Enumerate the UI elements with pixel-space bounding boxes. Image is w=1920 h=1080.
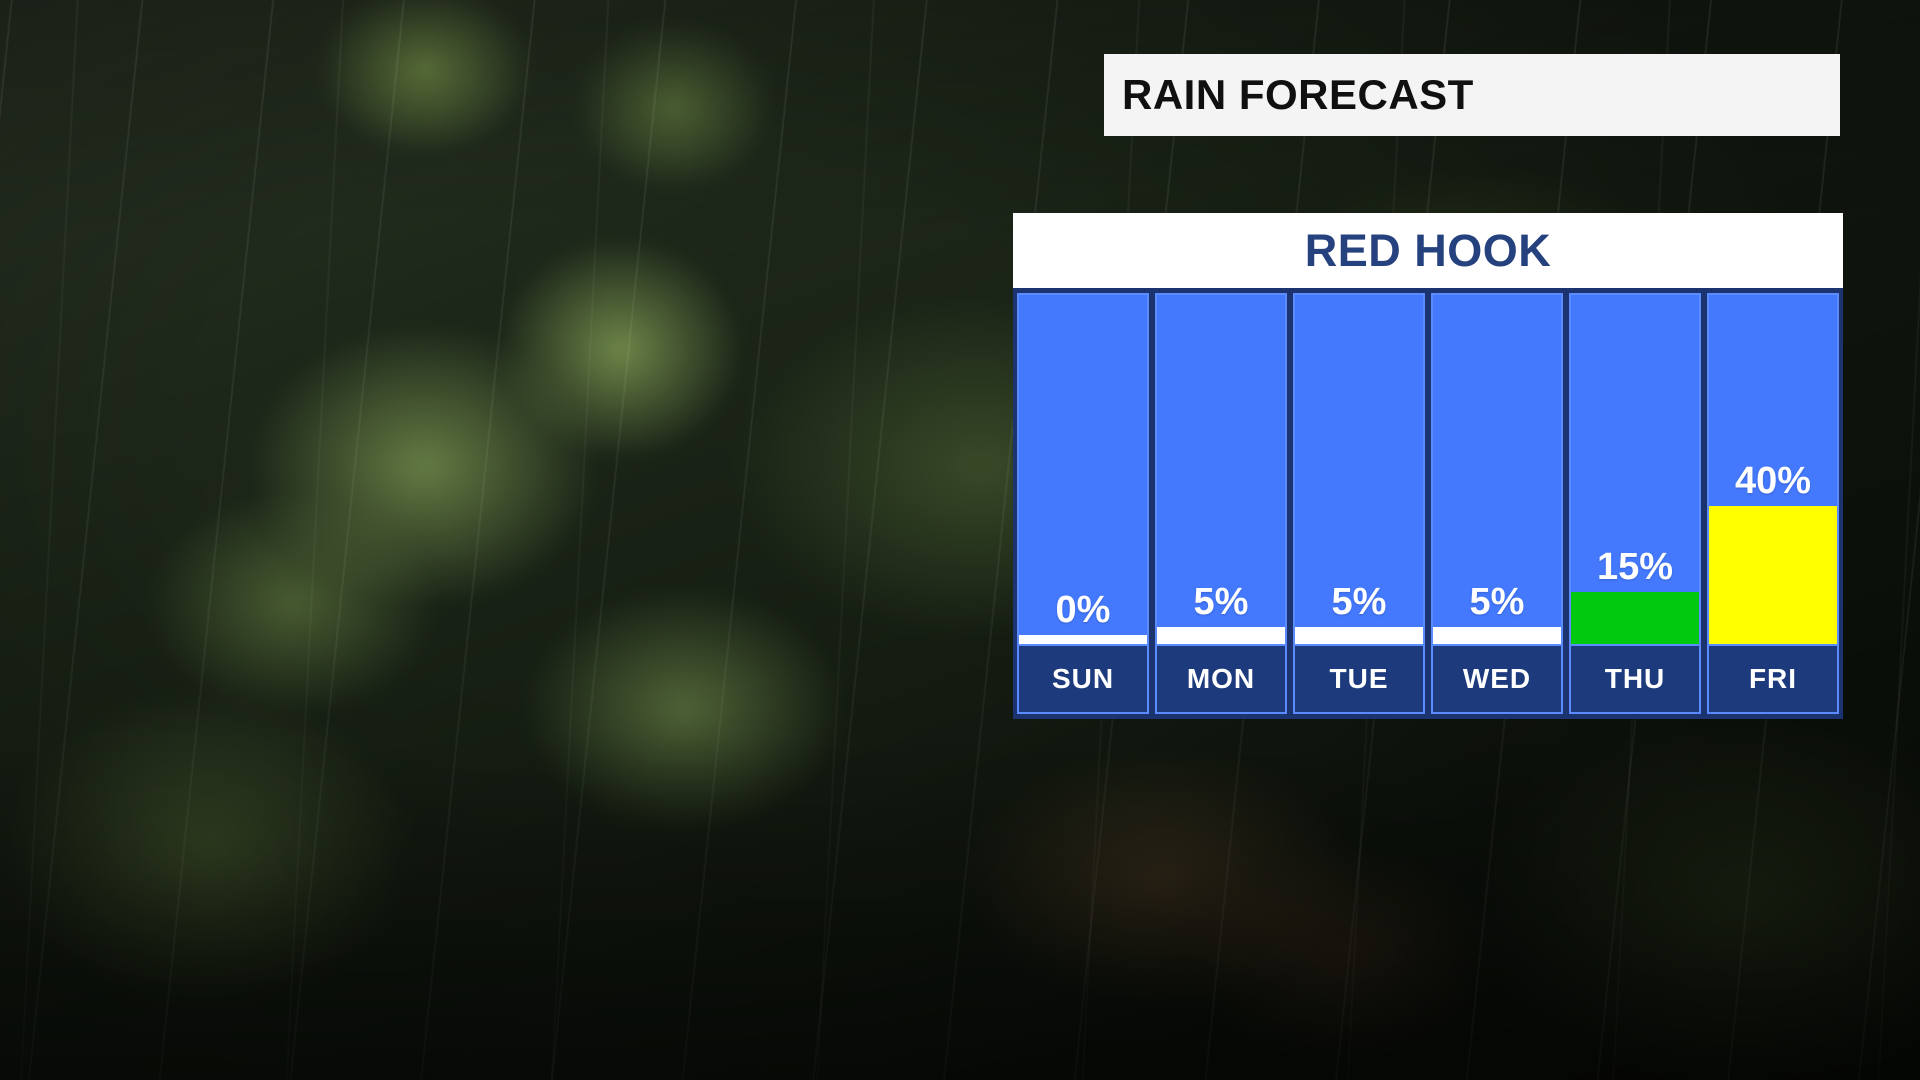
city-name-label: RED HOOK (1305, 228, 1552, 273)
day-plate-mon[interactable]: MON (1155, 644, 1287, 714)
probability-label-fri: 40% (1709, 462, 1837, 506)
day-plate-fri[interactable]: FRI (1707, 644, 1839, 714)
probability-label-wed: 5% (1433, 583, 1561, 627)
day-plate-wed[interactable]: WED (1431, 644, 1563, 714)
day-name-label: SUN (1052, 665, 1114, 693)
rain-probability-bar-chart: 0%SUN5%MON5%TUE5%WED15%THU40%FRI (1013, 288, 1843, 719)
day-column-wed[interactable]: 5%WED (1431, 293, 1563, 714)
day-name-label: MON (1187, 665, 1255, 693)
probability-bar-wed (1433, 627, 1561, 644)
probability-area-wed: 5% (1431, 293, 1563, 644)
title-banner: RAIN FORECAST (1104, 54, 1840, 136)
page-title: RAIN FORECAST (1122, 74, 1474, 116)
probability-bar-sun (1019, 635, 1147, 644)
probability-label-mon: 5% (1157, 583, 1285, 627)
probability-area-tue: 5% (1293, 293, 1425, 644)
probability-label-tue: 5% (1295, 583, 1423, 627)
probability-area-sun: 0% (1017, 293, 1149, 644)
probability-area-fri: 40% (1707, 293, 1839, 644)
probability-bar-thu (1571, 592, 1699, 644)
panel-header: RED HOOK (1013, 213, 1843, 288)
day-column-fri[interactable]: 40%FRI (1707, 293, 1839, 714)
probability-bar-fri (1709, 506, 1837, 644)
day-column-mon[interactable]: 5%MON (1155, 293, 1287, 714)
day-name-label: WED (1463, 665, 1531, 693)
weather-graphic-stage: RAIN FORECAST RED HOOK 0%SUN5%MON5%TUE5%… (0, 0, 1920, 1080)
probability-bar-tue (1295, 627, 1423, 644)
probability-area-mon: 5% (1155, 293, 1287, 644)
day-column-thu[interactable]: 15%THU (1569, 293, 1701, 714)
rain-forecast-panel: RED HOOK 0%SUN5%MON5%TUE5%WED15%THU40%FR… (1013, 213, 1843, 719)
day-column-sun[interactable]: 0%SUN (1017, 293, 1149, 714)
day-plate-sun[interactable]: SUN (1017, 644, 1149, 714)
day-name-label: THU (1605, 665, 1666, 693)
probability-label-sun: 0% (1019, 591, 1147, 635)
day-column-tue[interactable]: 5%TUE (1293, 293, 1425, 714)
day-plate-tue[interactable]: TUE (1293, 644, 1425, 714)
probability-label-thu: 15% (1571, 548, 1699, 592)
day-plate-thu[interactable]: THU (1569, 644, 1701, 714)
day-name-label: TUE (1330, 665, 1389, 693)
probability-area-thu: 15% (1569, 293, 1701, 644)
probability-bar-mon (1157, 627, 1285, 644)
day-name-label: FRI (1749, 665, 1797, 693)
